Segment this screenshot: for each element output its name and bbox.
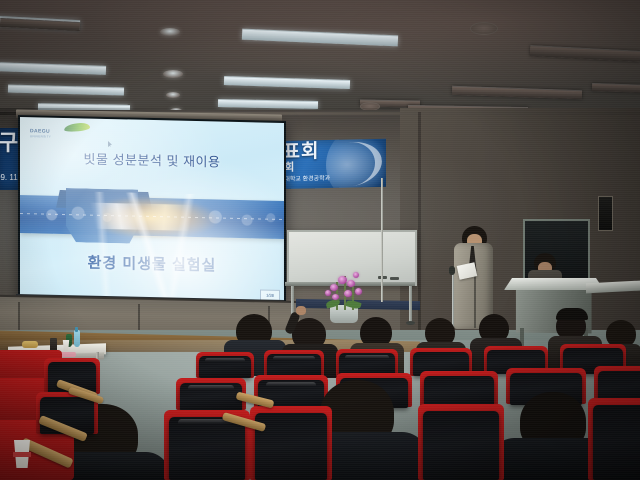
orchid-bloom — [353, 272, 359, 278]
water-bottle — [74, 330, 80, 347]
ceiling-vent-icon — [470, 22, 498, 35]
microphone-icon — [449, 266, 455, 275]
audience-hand — [296, 306, 306, 315]
orchid-bloom — [355, 288, 362, 295]
microphone-stand — [452, 272, 454, 328]
orchid-bloom — [325, 290, 331, 296]
seat-highlight — [266, 382, 316, 388]
water-bottle-cap — [75, 327, 78, 332]
whiteboard-foot — [406, 321, 415, 325]
ceiling-downlight-icon — [163, 70, 183, 78]
seat-cushion — [255, 413, 327, 480]
ceiling — [0, 0, 640, 118]
audience-cap-icon — [556, 308, 588, 320]
wall-pipe — [381, 178, 383, 302]
banner-swoosh-decoration — [326, 139, 385, 189]
lecture-hall-photo: 구 대 대구 09. 11. 20(금 발표회 발표회 : 대구대학교 환경공학… — [0, 0, 640, 480]
orchid-bloom — [330, 284, 338, 291]
seat-highlight — [188, 385, 234, 391]
orchid-bloom — [344, 290, 352, 297]
orchid-bloom — [338, 276, 347, 284]
seat-highlight — [273, 356, 315, 361]
ceiling-downlight-icon — [160, 28, 180, 36]
snack-item — [22, 341, 38, 348]
leaf-icon — [64, 122, 91, 132]
mouse-cursor-icon — [108, 141, 112, 147]
orchid-bloom — [347, 280, 355, 287]
whiteboard-leg — [409, 286, 412, 322]
slide-title: 빗물 성분분석 및 재이용 — [20, 147, 284, 172]
slide-subtitle: 환경 미생물 실험실 — [20, 250, 284, 277]
whiteboard-marker-icon — [390, 277, 399, 280]
coffee-cup-band — [13, 452, 31, 457]
seat-cushion — [423, 411, 499, 480]
seat-cushion — [169, 417, 245, 480]
seat-highlight — [345, 355, 389, 360]
ceiling-downlight-icon — [166, 92, 180, 98]
slide-logo: DAEGU UNIVERSITY — [30, 122, 92, 139]
projection-screen: DAEGU UNIVERSITY 빗물 성분분석 및 재이용 환경 미생물 실험… — [18, 115, 286, 307]
slide-logo-sub: UNIVERSITY — [30, 134, 51, 138]
seat-highlight — [205, 358, 245, 363]
wall-speaker-icon — [598, 196, 613, 231]
presenter-coat-seam — [474, 272, 476, 328]
seat-cushion — [593, 405, 640, 480]
presentation-slide: DAEGU UNIVERSITY 빗물 성분분석 및 재이용 환경 미생물 실험… — [20, 117, 284, 305]
orchid-bloom — [332, 294, 339, 300]
